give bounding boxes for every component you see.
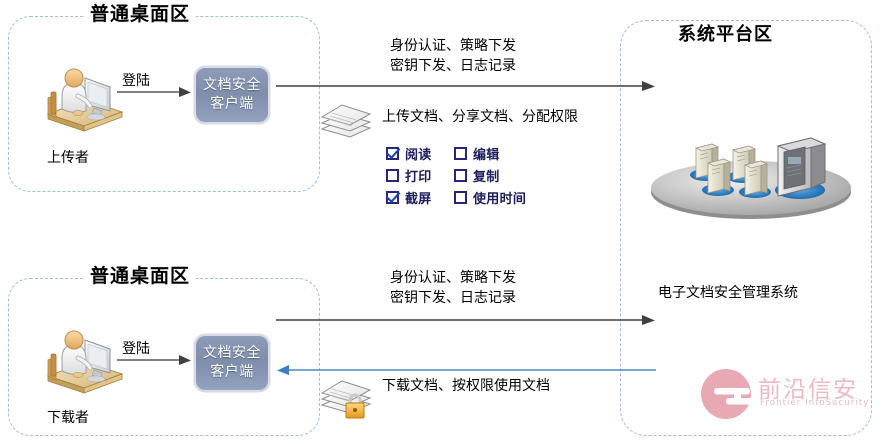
- client-title-line1: 文档安全: [203, 344, 261, 363]
- checkbox-unchecked-icon[interactable]: [454, 169, 467, 182]
- uploader-label: 上传者: [47, 147, 89, 167]
- permission-label: 复制: [473, 166, 500, 185]
- channel-label-top: 身份认证、策略下发 密钥下发、日志记录: [390, 36, 516, 76]
- channel-arrow-top: [276, 78, 656, 98]
- permission-label: 打印: [405, 166, 432, 185]
- checkbox-checked-icon[interactable]: [386, 147, 399, 160]
- document-security-client-bottom[interactable]: 文档安全 客户端: [196, 336, 268, 390]
- client-title-line2: 客户端: [210, 95, 254, 114]
- zone-title-desktop-top: 普通桌面区: [84, 3, 196, 25]
- permission-checkbox-grid[interactable]: 阅读编辑打印复制截屏使用时间: [386, 142, 526, 208]
- permission-item-4[interactable]: 截屏: [386, 188, 454, 207]
- doc-action-label-top: 上传文档、分享文档、分配权限: [382, 108, 578, 127]
- client-title-line2: 客户端: [210, 363, 254, 382]
- zone-title-system-platform: 系统平台区: [672, 24, 779, 46]
- permission-item-1[interactable]: 编辑: [454, 144, 526, 163]
- channel-label-bottom: 身份认证、策略下发 密钥下发、日志记录: [390, 268, 516, 308]
- system-name-label: 电子文档安全管理系统: [658, 282, 798, 302]
- server-cluster-icon: [648, 132, 863, 228]
- permission-label: 阅读: [405, 144, 432, 163]
- channel-label-bottom-line2: 密钥下发、日志记录: [390, 288, 516, 308]
- downloader-label: 下载者: [47, 407, 89, 427]
- channel-label-bottom-line1: 身份认证、策略下发: [390, 268, 516, 288]
- brand-name-en: Frontier InfoSecurity: [760, 398, 869, 408]
- channel-label-top-line1: 身份认证、策略下发: [390, 36, 516, 56]
- channel-arrow-bottom: [276, 312, 656, 332]
- doc-action-label-bottom: 下载文档、按权限使用文档: [382, 377, 550, 396]
- permission-label: 编辑: [473, 144, 500, 163]
- brand-mark-icon: [700, 368, 752, 420]
- uploader-workstation-icon: [38, 56, 124, 132]
- permission-item-5[interactable]: 使用时间: [454, 188, 526, 207]
- checkbox-unchecked-icon[interactable]: [454, 147, 467, 160]
- permission-item-2[interactable]: 打印: [386, 166, 454, 185]
- zone-title-desktop-bottom: 普通桌面区: [84, 265, 196, 287]
- checkbox-checked-icon[interactable]: [386, 191, 399, 204]
- login-arrow-bottom: [117, 351, 192, 373]
- login-arrow-top: [117, 83, 192, 105]
- document-security-client-top[interactable]: 文档安全 客户端: [196, 68, 268, 122]
- permission-label: 截屏: [405, 188, 432, 207]
- client-title-line1: 文档安全: [203, 76, 261, 95]
- locked-document-stack-icon: [318, 372, 384, 430]
- checkbox-unchecked-icon[interactable]: [454, 191, 467, 204]
- brand-logo: 前沿信安 Frontier InfoSecurity: [700, 366, 870, 428]
- permission-label: 使用时间: [473, 188, 526, 207]
- downloader-workstation-icon: [38, 318, 124, 394]
- document-stack-icon-top: [318, 98, 378, 146]
- permission-item-3[interactable]: 复制: [454, 166, 526, 185]
- permission-item-0[interactable]: 阅读: [386, 144, 454, 163]
- checkbox-unchecked-icon[interactable]: [386, 169, 399, 182]
- channel-label-top-line2: 密钥下发、日志记录: [390, 56, 516, 76]
